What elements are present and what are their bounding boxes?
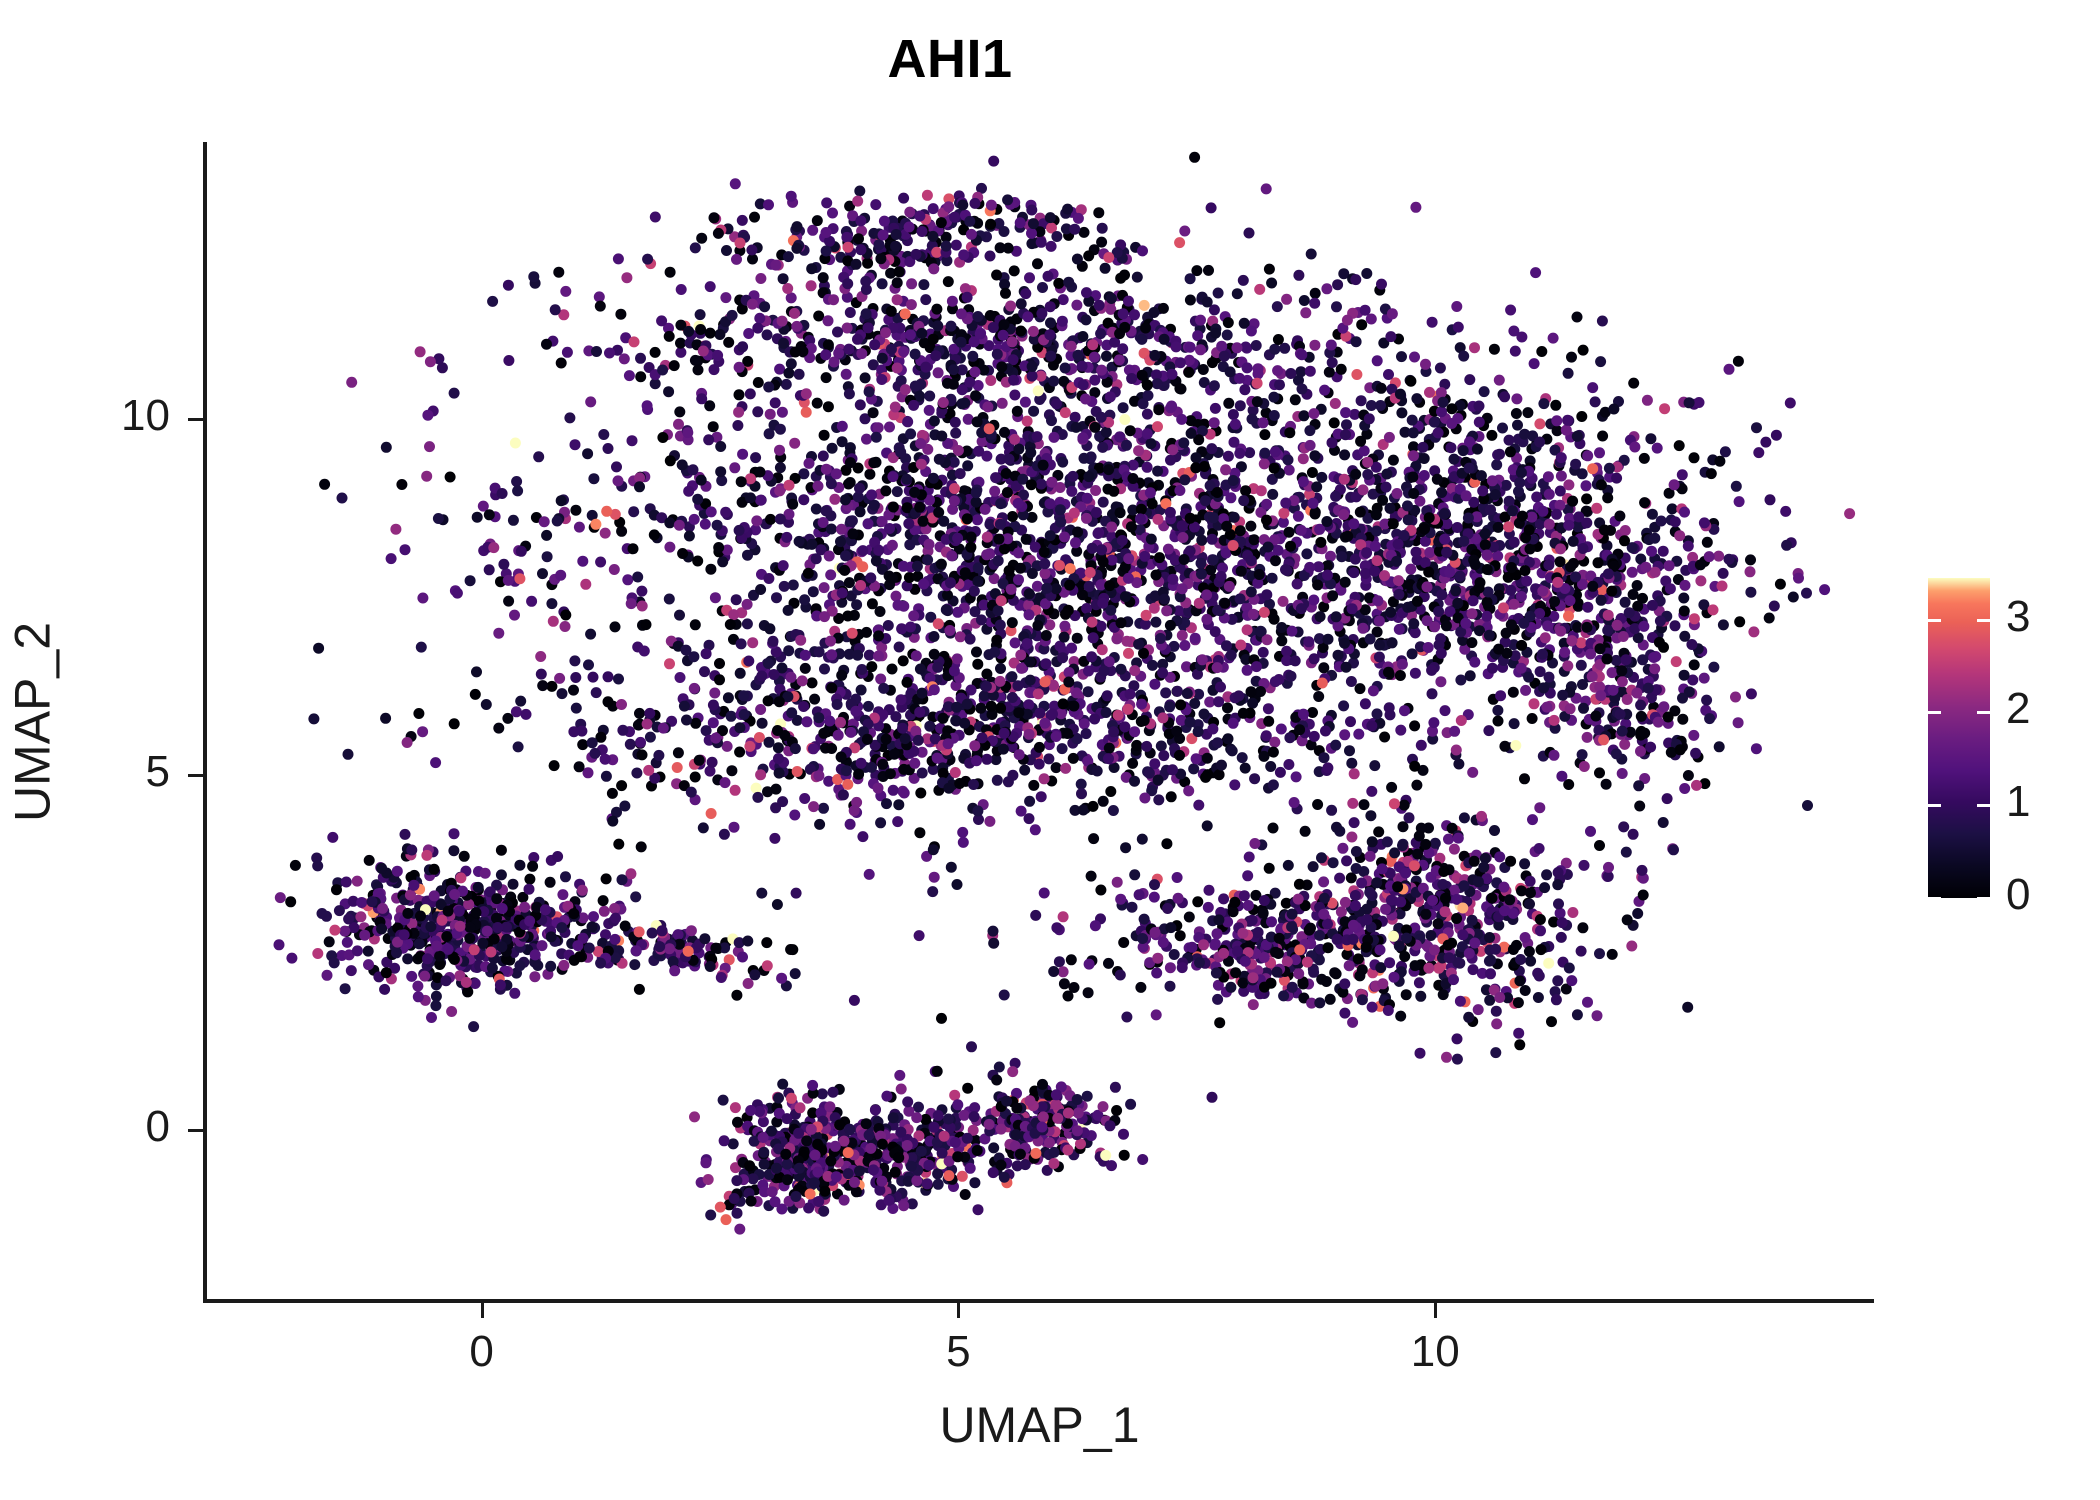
- x-axis-title: UMAP_1: [205, 1396, 1874, 1454]
- y-tick-mark: [188, 1129, 203, 1132]
- colorbar-tick-mark: [1928, 711, 1941, 714]
- colorbar-tick-mark: [1977, 711, 1990, 714]
- x-tick-mark: [957, 1303, 960, 1318]
- scatter-points-layer: [205, 142, 1874, 1301]
- y-tick-mark: [188, 418, 203, 421]
- x-tick-mark: [1434, 1303, 1437, 1318]
- x-tick-label: 5: [898, 1327, 1018, 1377]
- colorbar-tick-mark: [1928, 897, 1941, 900]
- y-tick-mark: [188, 774, 203, 777]
- x-tick-label: 10: [1375, 1327, 1495, 1377]
- page-title: AHI1: [0, 28, 1900, 90]
- colorbar-tick-label: 3: [2006, 592, 2030, 642]
- colorbar-legend: 0123: [1928, 578, 1990, 898]
- colorbar-tick-label: 0: [2006, 870, 2030, 920]
- colorbar-tick-mark: [1977, 619, 1990, 622]
- colorbar-tick-mark: [1977, 897, 1990, 900]
- colorbar-gradient: [1928, 578, 1990, 898]
- y-axis-title: UMAP_2: [4, 142, 62, 1303]
- colorbar-tick-label: 1: [2006, 777, 2030, 827]
- colorbar-tick-mark: [1928, 804, 1941, 807]
- plot-panel: [205, 142, 1874, 1301]
- x-tick-mark: [481, 1303, 484, 1318]
- x-tick-label: 0: [422, 1327, 542, 1377]
- chart-root: AHI1 0510 0510 UMAP_1 UMAP_2 0123: [0, 0, 2100, 1500]
- colorbar-tick-mark: [1977, 804, 1990, 807]
- colorbar-tick-label: 2: [2006, 684, 2030, 734]
- colorbar-tick-mark: [1928, 619, 1941, 622]
